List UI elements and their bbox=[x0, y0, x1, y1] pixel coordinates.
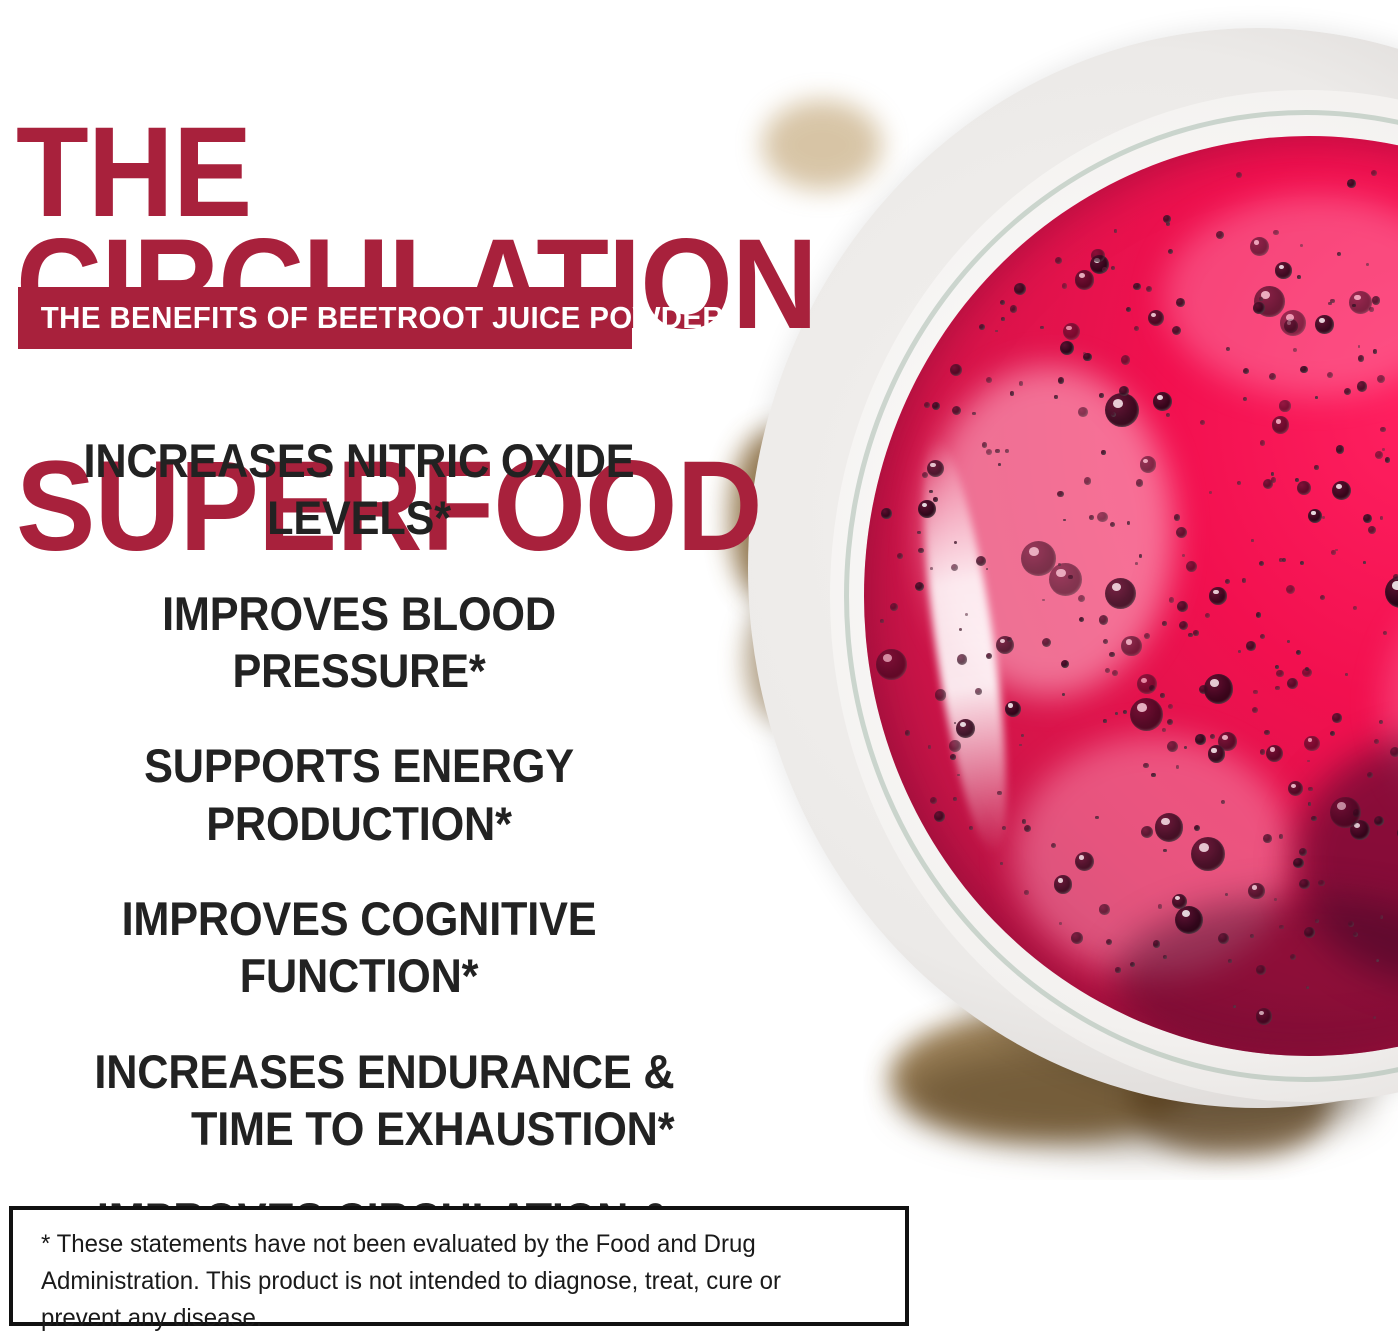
bubble bbox=[1393, 574, 1398, 580]
bubble bbox=[1146, 286, 1152, 292]
bubble bbox=[930, 797, 937, 804]
bubble bbox=[1376, 959, 1379, 962]
bubble bbox=[1379, 720, 1383, 724]
bubble bbox=[1105, 668, 1110, 673]
bubble bbox=[1184, 746, 1187, 749]
bubble bbox=[951, 564, 958, 571]
bubble bbox=[1055, 257, 1063, 265]
bubble bbox=[1063, 323, 1081, 341]
drinking-glass bbox=[748, 28, 1398, 1108]
bubble bbox=[1357, 381, 1368, 392]
bubble bbox=[1363, 561, 1366, 564]
bubble bbox=[1209, 491, 1212, 494]
bubble bbox=[1272, 416, 1289, 433]
bubble bbox=[1042, 599, 1045, 602]
bubble bbox=[1151, 773, 1156, 778]
bubble bbox=[1054, 395, 1057, 398]
bubble bbox=[1269, 373, 1276, 380]
bubble bbox=[1363, 514, 1372, 523]
bubble bbox=[1304, 927, 1315, 938]
bubble bbox=[1293, 348, 1297, 352]
bubble bbox=[1225, 579, 1230, 584]
bubble bbox=[928, 745, 932, 749]
bubble bbox=[1263, 834, 1272, 843]
bubble bbox=[1271, 477, 1276, 482]
bubble bbox=[1330, 731, 1335, 736]
bubble bbox=[1259, 561, 1264, 566]
bubble bbox=[997, 791, 1001, 795]
bubble bbox=[1251, 539, 1254, 542]
bubble bbox=[1176, 765, 1180, 769]
bubble bbox=[1001, 317, 1005, 321]
bubble bbox=[1130, 962, 1135, 967]
bubble bbox=[1304, 736, 1320, 752]
juice-surface bbox=[864, 136, 1398, 1056]
bubble bbox=[1099, 615, 1108, 624]
bubble bbox=[1248, 883, 1265, 900]
bubble bbox=[1336, 445, 1344, 453]
bubble bbox=[1371, 170, 1377, 176]
bubble bbox=[1141, 826, 1153, 838]
bubble bbox=[1078, 407, 1088, 417]
bubble bbox=[1311, 816, 1316, 821]
bubble bbox=[1228, 959, 1232, 963]
bubble bbox=[1099, 393, 1104, 398]
bubble bbox=[1024, 825, 1031, 832]
bubble bbox=[1115, 967, 1120, 972]
bubble bbox=[1000, 862, 1003, 865]
bubble bbox=[918, 548, 924, 554]
bubble bbox=[1103, 719, 1107, 723]
bubble bbox=[1091, 249, 1105, 263]
bubble bbox=[959, 628, 962, 631]
bubble bbox=[1140, 456, 1156, 472]
beetroot-juice-photo bbox=[700, 0, 1398, 1180]
bubble bbox=[1143, 763, 1148, 768]
bubble bbox=[1243, 368, 1249, 374]
bubble bbox=[927, 460, 944, 477]
bubble bbox=[1060, 341, 1074, 355]
bubble bbox=[1287, 678, 1298, 689]
bubble bbox=[1121, 636, 1141, 656]
bubble bbox=[1133, 283, 1141, 291]
bubble bbox=[1276, 670, 1284, 678]
bubble bbox=[1280, 310, 1306, 336]
bubble bbox=[1042, 638, 1051, 647]
bubble bbox=[986, 568, 989, 571]
bubble bbox=[1095, 816, 1098, 819]
bubble bbox=[1005, 701, 1021, 717]
bubble bbox=[1059, 922, 1062, 925]
bubble bbox=[1374, 816, 1384, 826]
bubble bbox=[1299, 879, 1309, 889]
bubble bbox=[1130, 698, 1163, 731]
bubble bbox=[1109, 652, 1115, 658]
bubble bbox=[1314, 465, 1318, 469]
bubble bbox=[1380, 915, 1384, 919]
bubble bbox=[1367, 772, 1373, 778]
bubble bbox=[1169, 597, 1174, 602]
bubble bbox=[1075, 270, 1095, 290]
bubble-layer bbox=[864, 136, 1398, 1056]
bubble bbox=[1177, 601, 1188, 612]
bubble bbox=[1279, 925, 1283, 929]
bubble bbox=[1260, 634, 1265, 639]
bubble bbox=[1373, 1016, 1376, 1019]
bubble bbox=[1010, 391, 1014, 395]
bubble bbox=[1163, 849, 1166, 852]
bubble bbox=[1115, 712, 1118, 715]
bubble bbox=[1221, 800, 1225, 804]
bubble bbox=[922, 472, 928, 478]
bubble bbox=[1135, 562, 1138, 565]
bubble bbox=[1188, 633, 1192, 637]
list-item: IMPROVES BLOOD PRESSURE* bbox=[47, 585, 671, 700]
bubble bbox=[1194, 825, 1200, 831]
bubble bbox=[1155, 813, 1184, 842]
bubble bbox=[1308, 509, 1322, 523]
bubble bbox=[1372, 296, 1380, 304]
subtitle-label: THE BENEFITS OF BEETROOT JUICE POWDER bbox=[18, 300, 724, 336]
bubble bbox=[1163, 955, 1167, 959]
bubble bbox=[1256, 612, 1261, 617]
bubble bbox=[1348, 921, 1354, 927]
bubble bbox=[986, 449, 992, 455]
bubble bbox=[1297, 275, 1301, 279]
bubble bbox=[1179, 621, 1188, 630]
bubble bbox=[1308, 802, 1312, 806]
bubble bbox=[986, 653, 992, 659]
bubble bbox=[1114, 229, 1117, 232]
disclaimer-box: * These statements have not been evaluat… bbox=[9, 1206, 909, 1326]
bubble bbox=[1256, 1008, 1273, 1025]
bubble bbox=[880, 619, 884, 623]
bubble bbox=[1332, 481, 1351, 500]
bubble bbox=[1282, 558, 1286, 562]
bubble bbox=[1279, 400, 1290, 411]
bubble bbox=[1377, 375, 1385, 383]
bubble bbox=[1193, 630, 1199, 636]
bubble bbox=[1259, 297, 1262, 300]
bubble bbox=[1019, 381, 1024, 386]
bubble bbox=[1242, 578, 1247, 583]
bubble bbox=[1385, 576, 1398, 608]
bubble bbox=[1123, 710, 1128, 715]
bubble bbox=[1162, 621, 1167, 626]
bubble bbox=[1308, 787, 1312, 791]
bubble bbox=[1375, 451, 1383, 459]
bubble bbox=[1332, 713, 1341, 722]
bubble bbox=[1256, 965, 1265, 974]
bubble bbox=[949, 740, 961, 752]
bubble bbox=[1330, 299, 1335, 304]
bubble bbox=[1374, 739, 1379, 744]
bubble bbox=[976, 556, 986, 566]
bubble bbox=[897, 553, 903, 559]
bubble bbox=[890, 603, 898, 611]
bubble bbox=[1320, 595, 1325, 600]
bubble bbox=[1051, 843, 1056, 848]
bubble bbox=[954, 541, 957, 544]
bubble bbox=[965, 613, 968, 616]
bubble bbox=[1271, 472, 1274, 475]
bubble bbox=[1111, 412, 1116, 417]
bubble bbox=[1315, 919, 1319, 923]
bubble bbox=[1084, 477, 1092, 485]
bubble bbox=[1005, 449, 1009, 453]
bubble bbox=[1106, 939, 1112, 945]
benefits-list: INCREASES NITRIC OXIDE LEVELS* IMPROVES … bbox=[20, 432, 698, 1340]
bubble bbox=[1200, 420, 1205, 425]
bubble bbox=[1253, 690, 1258, 695]
bubble bbox=[1186, 561, 1197, 572]
bubble bbox=[1166, 413, 1170, 417]
list-item: INCREASES ENDURANCE & TIME TO EXHAUSTION… bbox=[94, 1043, 674, 1158]
list-item: IMPROVES COGNITIVE FUNCTION* bbox=[47, 890, 671, 1005]
bubble bbox=[1195, 734, 1205, 744]
bubble bbox=[1099, 904, 1110, 915]
bubble bbox=[1126, 307, 1131, 312]
bubble bbox=[1208, 745, 1225, 762]
bubble bbox=[1287, 640, 1290, 643]
bubble bbox=[1160, 693, 1164, 697]
bubble bbox=[1163, 215, 1171, 223]
bubble bbox=[1209, 587, 1227, 605]
bubble bbox=[1111, 266, 1116, 271]
bubble bbox=[1380, 427, 1385, 432]
bubble bbox=[1182, 554, 1185, 557]
bubble bbox=[1040, 326, 1044, 330]
bubble bbox=[1225, 893, 1228, 896]
bubble bbox=[986, 377, 992, 383]
bubble bbox=[1274, 898, 1277, 901]
bubble bbox=[915, 582, 924, 591]
disclaimer-text: * These statements have not been evaluat… bbox=[41, 1226, 857, 1337]
bubble bbox=[1101, 450, 1105, 454]
bubble bbox=[1162, 728, 1167, 733]
bubble bbox=[1158, 904, 1162, 908]
bubble bbox=[1275, 665, 1279, 669]
bubble bbox=[1260, 749, 1266, 755]
bubble bbox=[1057, 491, 1063, 497]
bubble bbox=[1105, 578, 1136, 609]
list-item: SUPPORTS ENERGY PRODUCTION* bbox=[47, 737, 671, 852]
bubble bbox=[1079, 617, 1085, 623]
bubble bbox=[1191, 837, 1225, 871]
bubble bbox=[1071, 932, 1083, 944]
bubble bbox=[930, 567, 933, 570]
bubble bbox=[1148, 310, 1164, 326]
bubble bbox=[1062, 283, 1067, 288]
bubble bbox=[1297, 481, 1311, 495]
bubble bbox=[995, 330, 998, 333]
bubble bbox=[1127, 521, 1130, 524]
bubble bbox=[1216, 231, 1224, 239]
bubble bbox=[1373, 349, 1378, 354]
bubble bbox=[1300, 561, 1304, 565]
bubble bbox=[1322, 516, 1325, 519]
bubble bbox=[1049, 563, 1082, 596]
bubble bbox=[1058, 377, 1064, 383]
bubble bbox=[1250, 934, 1254, 938]
bubble bbox=[1243, 397, 1247, 401]
bubble bbox=[950, 364, 962, 376]
bubble bbox=[1000, 300, 1005, 305]
bubble bbox=[1174, 514, 1180, 520]
bubble bbox=[1275, 686, 1279, 690]
bubble bbox=[1293, 858, 1303, 868]
bubble bbox=[1318, 880, 1324, 886]
bubble bbox=[1205, 613, 1210, 618]
bubble bbox=[1366, 263, 1369, 266]
bubble bbox=[1075, 852, 1094, 871]
bubble bbox=[1330, 797, 1361, 828]
bubble bbox=[924, 402, 930, 408]
bubble bbox=[956, 719, 975, 738]
bubble bbox=[1167, 741, 1178, 752]
bubble bbox=[1353, 932, 1358, 937]
bubble bbox=[1136, 479, 1144, 487]
bubble bbox=[1105, 393, 1139, 427]
bubble bbox=[1119, 386, 1129, 396]
bubble bbox=[1296, 650, 1301, 655]
bubble bbox=[975, 688, 981, 694]
bubble bbox=[1358, 345, 1361, 348]
bubble bbox=[1288, 781, 1303, 796]
bubble bbox=[957, 654, 968, 665]
bubble bbox=[1137, 674, 1157, 694]
bubble bbox=[1290, 954, 1296, 960]
bubble bbox=[1210, 734, 1215, 739]
bubble bbox=[979, 324, 985, 330]
bubble bbox=[1383, 631, 1387, 635]
bubble bbox=[876, 649, 907, 680]
bubble bbox=[1121, 355, 1130, 364]
bubble bbox=[1062, 693, 1065, 696]
bubble bbox=[969, 826, 973, 830]
bubble bbox=[995, 449, 999, 453]
bubble bbox=[1236, 172, 1242, 178]
list-item: INCREASES NITRIC OXIDE LEVELS* bbox=[47, 432, 671, 547]
bubble bbox=[905, 730, 910, 735]
bubble bbox=[1061, 660, 1069, 668]
bubble bbox=[1279, 834, 1284, 839]
bubble bbox=[953, 797, 957, 801]
bubble bbox=[1226, 347, 1230, 351]
bubble bbox=[1286, 585, 1295, 594]
bubble bbox=[1168, 704, 1173, 709]
bubble bbox=[1337, 252, 1341, 256]
bubble bbox=[918, 500, 936, 518]
bubble bbox=[1014, 283, 1026, 295]
bubble bbox=[1369, 307, 1373, 311]
bubble bbox=[1204, 674, 1233, 703]
bubble bbox=[1344, 388, 1351, 395]
bubble bbox=[917, 531, 921, 535]
bubble bbox=[1021, 734, 1024, 737]
bubble bbox=[1153, 940, 1161, 948]
bubble bbox=[1300, 244, 1303, 247]
bubble bbox=[1345, 673, 1348, 676]
bubble bbox=[1246, 641, 1256, 651]
bubble bbox=[1233, 1005, 1236, 1008]
bubble bbox=[952, 406, 961, 415]
bubble bbox=[1315, 315, 1333, 333]
bubble bbox=[998, 463, 1001, 466]
bubble bbox=[1353, 606, 1358, 611]
bubble bbox=[1022, 819, 1027, 824]
bubble bbox=[1237, 481, 1241, 485]
bubble bbox=[1153, 392, 1172, 411]
bubble bbox=[1176, 527, 1187, 538]
bubble bbox=[1089, 515, 1094, 520]
bubble bbox=[1063, 519, 1066, 522]
bubble bbox=[1331, 550, 1336, 555]
bubble bbox=[1175, 906, 1203, 934]
bubble bbox=[1002, 826, 1006, 830]
bubble bbox=[1390, 747, 1398, 757]
bubble bbox=[1144, 633, 1150, 639]
bubble bbox=[1110, 522, 1115, 527]
text-column: THE CIRCULATION SUPERFOOD THE BENEFITS O… bbox=[0, 0, 730, 1308]
bubble bbox=[957, 774, 960, 777]
bubble bbox=[1275, 262, 1291, 278]
bubble bbox=[1010, 305, 1017, 312]
bubble bbox=[1302, 668, 1312, 678]
bubble bbox=[1083, 353, 1092, 362]
bubble bbox=[1102, 267, 1107, 272]
bubble bbox=[972, 412, 975, 415]
bubble bbox=[1097, 512, 1107, 522]
bubble bbox=[1307, 760, 1310, 763]
bubble bbox=[1172, 326, 1181, 335]
bubble bbox=[934, 811, 945, 822]
bubble bbox=[982, 442, 987, 447]
bubble bbox=[1252, 707, 1258, 713]
bubble bbox=[1078, 595, 1085, 602]
bubble bbox=[933, 497, 938, 502]
bubble bbox=[1368, 526, 1376, 534]
bubble bbox=[1168, 249, 1174, 255]
bubble bbox=[1134, 326, 1139, 331]
bubble bbox=[1218, 933, 1229, 944]
bubble bbox=[1260, 440, 1265, 445]
bubble bbox=[1327, 372, 1333, 378]
bubble bbox=[1019, 744, 1022, 747]
bubble bbox=[1253, 302, 1265, 314]
bubble bbox=[1103, 639, 1108, 644]
bubble bbox=[932, 402, 940, 410]
bubble bbox=[1172, 894, 1187, 909]
subtitle-banner: THE BENEFITS OF BEETROOT JUICE POWDER bbox=[18, 287, 632, 349]
bubble bbox=[1176, 298, 1185, 307]
bubble bbox=[1385, 457, 1391, 463]
bubble bbox=[1112, 670, 1118, 676]
bubble bbox=[1167, 719, 1173, 725]
bubble bbox=[1380, 516, 1383, 519]
bubble bbox=[1054, 875, 1073, 894]
bubble bbox=[1238, 650, 1241, 653]
bubble bbox=[1264, 730, 1269, 735]
bubble bbox=[929, 490, 932, 493]
bubble bbox=[1273, 230, 1278, 235]
bubble bbox=[881, 508, 891, 518]
bubble bbox=[1347, 179, 1356, 188]
bubble bbox=[1300, 366, 1307, 373]
bubble bbox=[1315, 396, 1318, 399]
bubble bbox=[950, 754, 956, 760]
bubble bbox=[1266, 745, 1283, 762]
